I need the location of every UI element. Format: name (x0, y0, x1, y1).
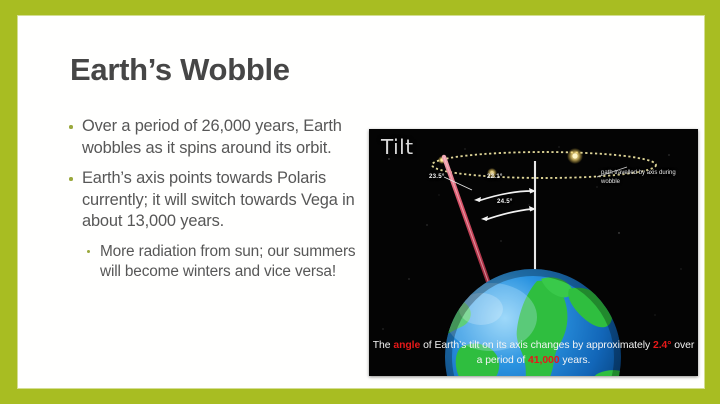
list-item-label: Over a period of 26,000 years, Earth wob… (82, 117, 342, 157)
angle-label-min: 22.1° (487, 173, 503, 180)
list-item-label: More radiation from sun; our summers wil… (100, 243, 355, 280)
slide-canvas: Earth’s Wobble Over a period of 26,000 y… (18, 16, 704, 388)
figure-caption: The angle of Earth’s tilt on its axis ch… (369, 339, 698, 368)
bullet-marker-icon (69, 125, 73, 129)
bullet-marker-icon (69, 177, 73, 181)
bullet-list: Over a period of 26,000 years, Earth wob… (68, 116, 360, 282)
caption-highlight-degrees: 2.4° (653, 340, 671, 351)
caption-part-2: of Earth’s tilt on its axis changes by a… (420, 340, 653, 351)
angle-arc-24 (481, 206, 536, 221)
caption-highlight-years: 41,000 (528, 355, 559, 366)
list-item: Over a period of 26,000 years, Earth wob… (68, 116, 360, 159)
angle-label-max: 24.5° (497, 198, 513, 205)
bullet-marker-icon (87, 250, 90, 253)
list-item-label: Earth’s axis points towards Polaris curr… (82, 169, 355, 230)
slide: Earth’s Wobble Over a period of 26,000 y… (0, 0, 720, 404)
caption-part-1: The (373, 340, 394, 351)
list-item: Earth’s axis points towards Polaris curr… (68, 168, 360, 233)
path-annotation-label: path travelled by axis during wobble (601, 169, 693, 186)
page-title: Earth’s Wobble (70, 52, 290, 88)
caption-highlight-angle: angle (393, 340, 420, 351)
caption-part-4: years. (560, 355, 591, 366)
figure-panel: Tilt 23.5° 22.1° 24.5° path travelled by… (369, 129, 698, 376)
angle-leader-line (444, 177, 472, 190)
list-item-sub: More radiation from sun; our summers wil… (68, 242, 360, 282)
angle-label-outer: 23.5° (429, 173, 445, 180)
figure-title: Tilt (381, 135, 414, 159)
